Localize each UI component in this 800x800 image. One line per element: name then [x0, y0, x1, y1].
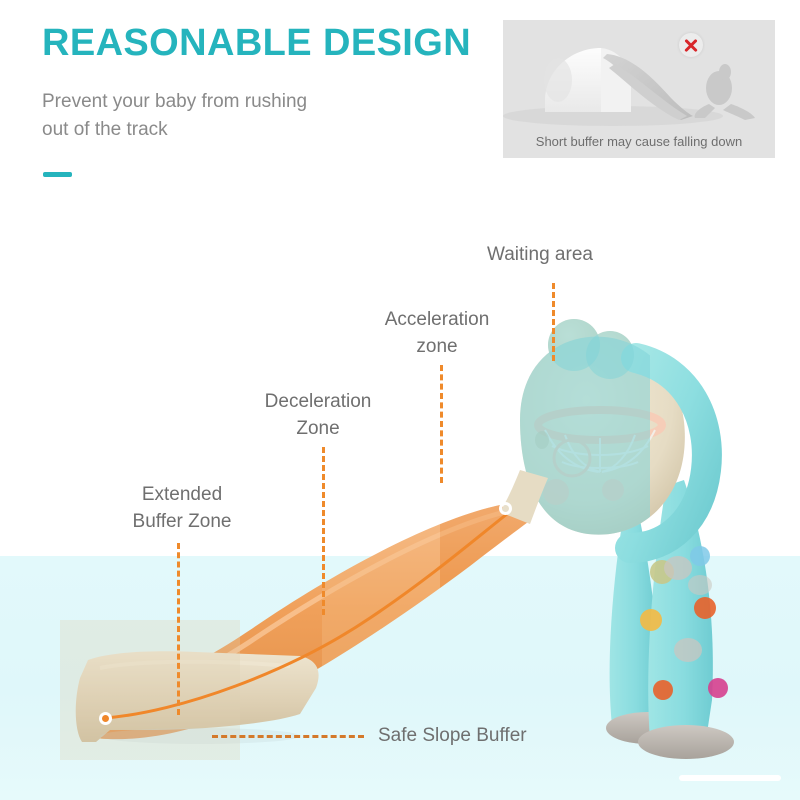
label-acceleration-zone: Acceleration zone: [366, 306, 508, 360]
marker-slope-top: [499, 502, 512, 515]
marker-slope-bottom: [99, 712, 112, 725]
bottom-progress-bar: [679, 775, 781, 781]
infographic-page: REASONABLE DESIGN Prevent your baby from…: [0, 0, 800, 800]
label-deceleration-zone: Deceleration Zone: [243, 388, 393, 442]
leader-line-deceleration-zone: [322, 447, 325, 615]
accent-underline: [43, 172, 72, 177]
label-safe-slope-buffer: Safe Slope Buffer: [378, 722, 527, 749]
label-waiting-area: Waiting area: [487, 241, 593, 268]
inset-caption: Short buffer may cause falling down: [503, 134, 775, 149]
red-x-icon: [679, 33, 703, 57]
label-extended-buffer-zone: Extended Buffer Zone: [118, 481, 246, 535]
extended-buffer-overlay: [60, 620, 240, 760]
front-foot: [638, 725, 734, 759]
page-subtitle: Prevent your baby from rushing out of th…: [42, 88, 307, 144]
page-title: REASONABLE DESIGN: [42, 22, 471, 65]
bad-example-inset: Short buffer may cause falling down: [503, 20, 775, 158]
leader-line-waiting-area: [552, 283, 555, 361]
leader-line-extended-buffer-zone: [177, 543, 180, 715]
leader-line-acceleration-zone: [440, 365, 443, 483]
leader-line-safe-slope-buffer: [212, 735, 364, 738]
